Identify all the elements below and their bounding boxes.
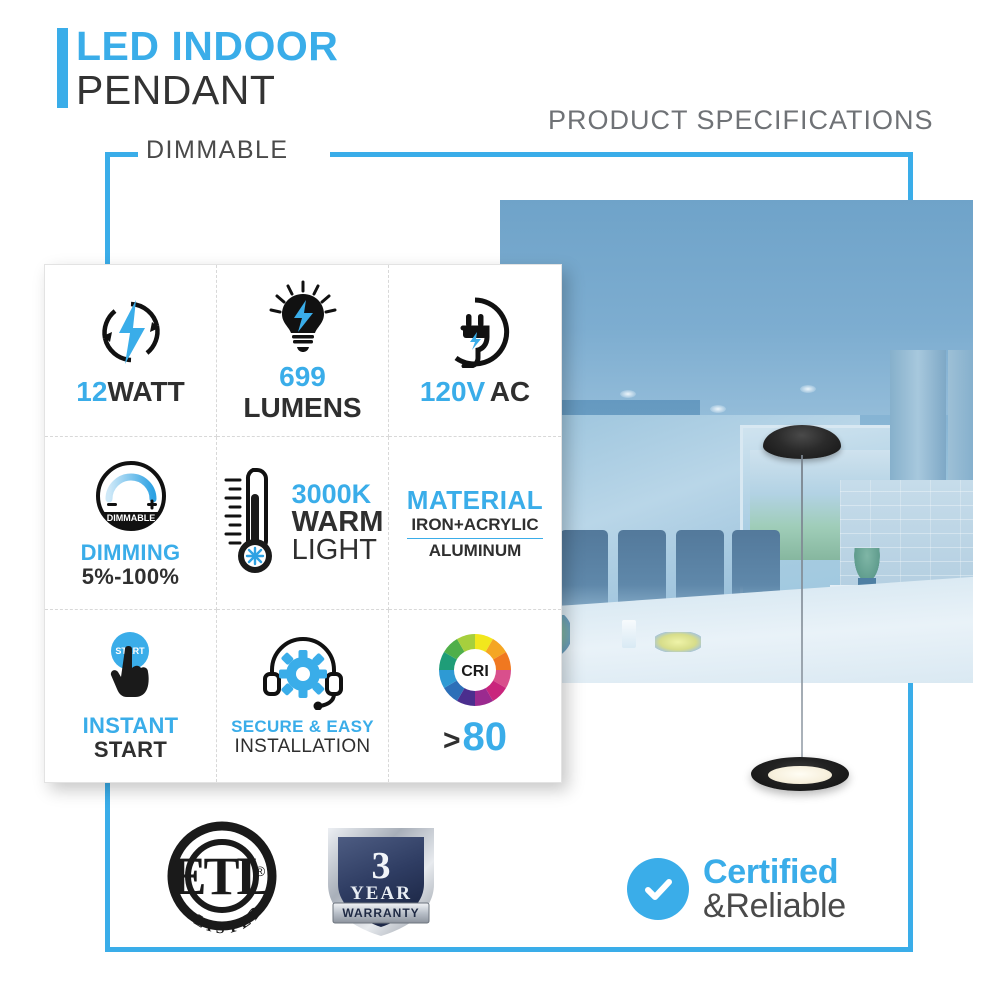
- spec-cell-wattage: 12WATT: [45, 265, 217, 437]
- page-title-line2: PENDANT: [76, 68, 275, 112]
- spec-label-installation: SECURE & EASY INSTALLATION: [231, 718, 374, 758]
- color-temperature-content: 3000K WARM LIGHT: [222, 464, 384, 582]
- spec-cell-lumens: 699 LUMENS: [217, 265, 389, 437]
- frame-bottom-edge: [105, 947, 913, 952]
- title-accent-bar: [57, 28, 68, 108]
- dimmer-dial-icon: DIMMABLE: [94, 457, 168, 535]
- product-specifications-heading: PRODUCT SPECIFICATIONS: [548, 105, 934, 136]
- photo-plate: [655, 632, 701, 652]
- spec-cell-dimming: DIMMABLE DIMMING 5%-100%: [45, 437, 217, 609]
- frame-top-edge-left: [105, 152, 138, 157]
- etl-listed-badge: ETL ® LISTED: [160, 818, 284, 942]
- spec-label-material: MATERIAL IRON+ACRYLIC ALUMINUM: [407, 486, 543, 561]
- spec-cell-installation: SECURE & EASY INSTALLATION: [217, 610, 389, 782]
- warranty-badge: 3 YEAR WARRANTY: [320, 818, 442, 942]
- spec-label-voltage: 120V AC: [420, 377, 530, 408]
- certified-reliable-text: Certified &Reliable: [703, 855, 846, 923]
- pendant-diffuser: [768, 766, 832, 784]
- pendant-canopy: [763, 425, 841, 459]
- frame-dimmable-label: DIMMABLE: [146, 136, 289, 165]
- color-temperature-text: 3000K WARM LIGHT: [292, 481, 384, 564]
- lightbulb-bolt-icon: [266, 278, 340, 356]
- spec-label-dimming: DIMMING 5%-100%: [81, 541, 181, 589]
- page-title-line1: LED INDOOR: [76, 24, 338, 68]
- specifications-card: 12WATT: [44, 264, 562, 783]
- spec-cell-voltage: 120V AC: [389, 265, 561, 437]
- spec-label-lumens: 699 LUMENS: [221, 362, 384, 424]
- spec-cell-cri: CRI > 80: [389, 610, 561, 782]
- thermometer-icon: [222, 464, 284, 582]
- spec-label-cri: > 80: [443, 715, 507, 760]
- product-photo: [500, 200, 973, 683]
- photo-glass: [622, 620, 636, 648]
- specifications-grid: 12WATT: [45, 265, 561, 782]
- headset-gear-icon: [260, 634, 346, 712]
- certified-reliable-block: Certified &Reliable: [627, 855, 846, 923]
- hand-press-button-icon: START: [94, 630, 168, 708]
- spec-label-wattage: 12WATT: [76, 377, 184, 408]
- svg-text:3: 3: [372, 845, 391, 887]
- svg-text:YEAR: YEAR: [350, 883, 412, 904]
- power-recycle-bolt-icon: [95, 293, 167, 371]
- check-circle-icon: [627, 858, 689, 920]
- photo-downlight: [710, 405, 726, 413]
- photo-downlight: [800, 385, 816, 393]
- spec-cell-material: MATERIAL IRON+ACRYLIC ALUMINUM: [389, 437, 561, 609]
- spec-cell-instant-start: START INSTANT START: [45, 610, 217, 782]
- svg-text:DIMMABLE: DIMMABLE: [106, 513, 155, 523]
- svg-text:CRI: CRI: [461, 663, 489, 680]
- svg-text:WARRANTY: WARRANTY: [342, 906, 419, 920]
- photo-downlight: [620, 390, 636, 398]
- spec-label-instant-start: INSTANT START: [83, 714, 179, 762]
- infographic-root: LED INDOOR PENDANT PRODUCT SPECIFICATION…: [0, 0, 1000, 1000]
- frame-top-edge-right: [330, 152, 913, 157]
- power-plug-icon: [439, 293, 511, 371]
- pendant-cord: [801, 455, 803, 785]
- spec-cell-color-temperature: 3000K WARM LIGHT: [217, 437, 389, 609]
- cri-color-wheel-icon: CRI: [434, 631, 516, 709]
- svg-text:®: ®: [255, 863, 266, 879]
